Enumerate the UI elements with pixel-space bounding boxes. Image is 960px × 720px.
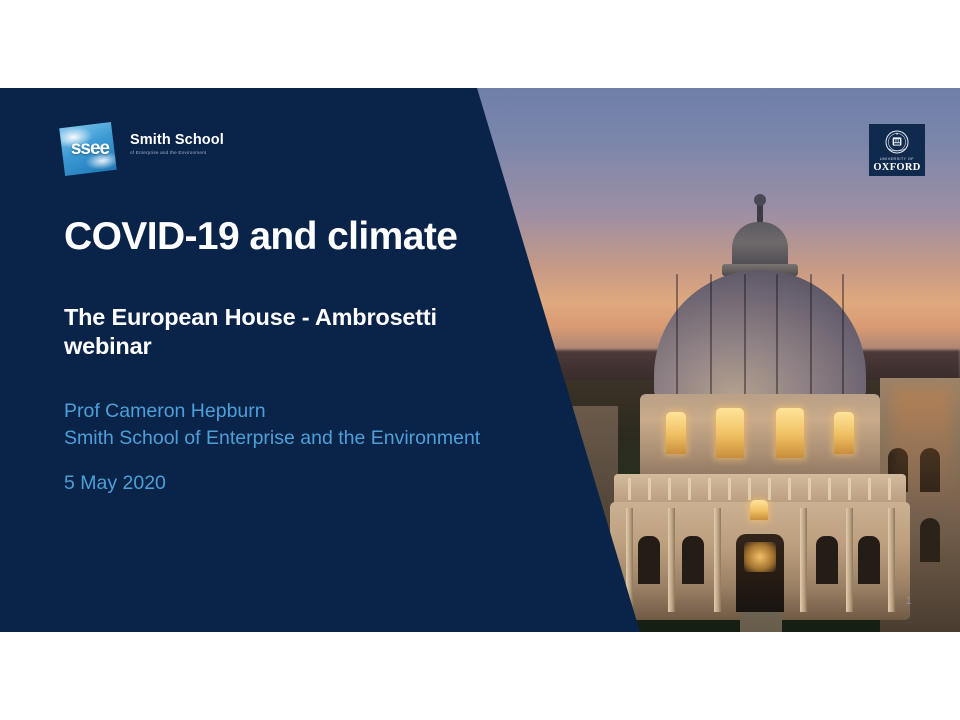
oxford-crest-icon: [885, 130, 909, 154]
ssee-logo[interactable]: ssee Smith School of Enterprise and the …: [62, 125, 234, 173]
page-title: COVID-19 and climate: [64, 216, 457, 257]
dome-drum: [640, 394, 880, 480]
dome-finial: [757, 198, 763, 224]
smith-school-tagline: of Enterprise and the Environment: [130, 150, 206, 155]
presenter-name: Prof Cameron Hepburn: [64, 398, 584, 425]
slide-number: 1: [906, 596, 912, 607]
presenter-affiliation: Smith School of Enterprise and the Envir…: [64, 425, 584, 452]
smith-school-name: Smith School: [130, 132, 224, 148]
oxford-university-logo[interactable]: UNIVERSITY OF OXFORD: [869, 124, 925, 176]
dome: [654, 270, 866, 402]
oxford-wordmark: OXFORD: [869, 162, 925, 173]
approach-path: [740, 612, 782, 632]
presenter-block: Prof Cameron Hepburn Smith School of Ent…: [64, 398, 584, 452]
radcliffe-camera-building: [610, 198, 910, 632]
oxford-university-line: UNIVERSITY OF: [869, 157, 925, 161]
entrance-glow: [744, 542, 776, 572]
dome-lantern: [732, 222, 788, 268]
slide-content: ssee Smith School of Enterprise and the …: [0, 88, 640, 632]
slide-canvas: ssee Smith School of Enterprise and the …: [0, 88, 960, 632]
presentation-date: 5 May 2020: [64, 472, 166, 495]
ssee-wordmark: ssee: [64, 139, 116, 158]
page-subtitle: The European House - Ambrosetti webinar: [64, 303, 494, 360]
